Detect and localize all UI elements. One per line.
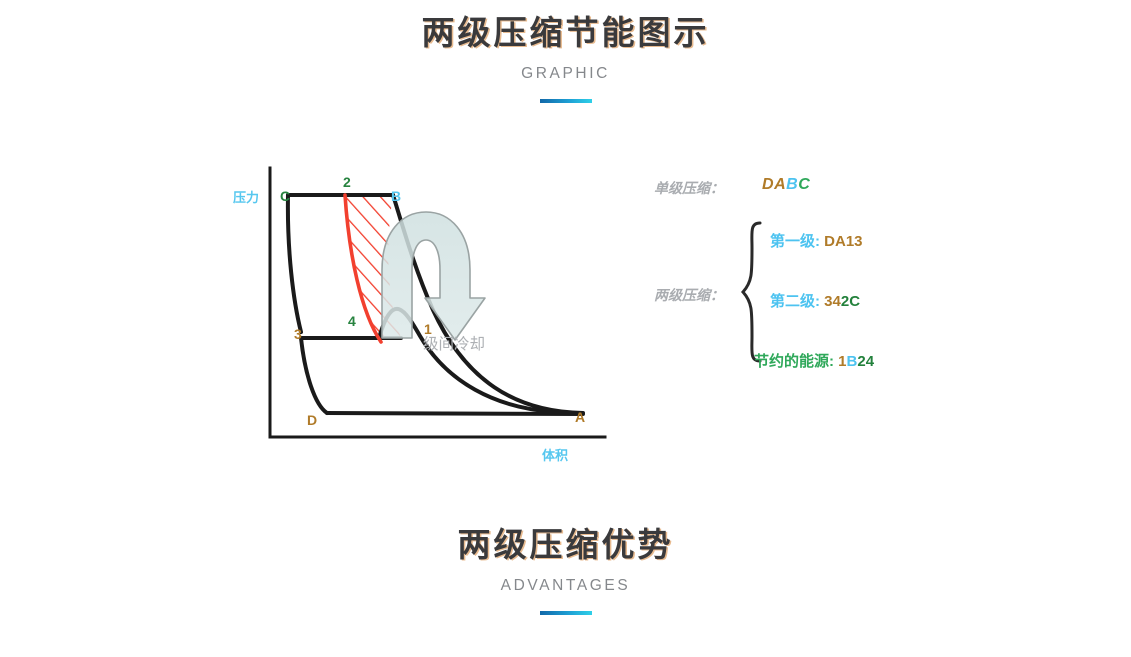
legend-seg-B: B [786,176,798,193]
section-header-graphic: 两级压缩节能图示 GRAPHIC [0,12,1131,103]
legend-stage-1-row: 第一级: DA13 [770,230,863,251]
page-title: 两级压缩节能图示 [0,12,1131,53]
legend-brace-icon [740,220,766,365]
legend-stage-2-seg-2C: 2C [841,293,860,310]
legend-stage-2-row: 第二级: 342C [770,290,860,311]
legend-stage-1-name: 第一级: [770,233,820,250]
intercooling-label: 级间冷却 [423,332,485,354]
point-label-A: A [575,409,585,425]
legend-saved-seg-B: B [847,353,858,370]
point-label-D: D [307,412,317,428]
point-label-2: 2 [343,174,351,190]
page-subtitle: GRAPHIC [0,65,1131,83]
advantages-subtitle: ADVANTAGES [0,577,1131,595]
legend-saved-energy-name: 节约的能源: [754,353,834,370]
axis-label-pressure: 压力 [233,187,259,206]
point-label-B: B [391,188,401,204]
legend-saved-energy-row: 节约的能源: 1B24 [754,350,874,371]
legend-stage-2-name: 第二级: [770,293,820,310]
axis-label-volume: 体积 [542,445,568,464]
intercooling-arrow [382,212,485,340]
legend-seg-C: C [798,176,810,193]
section-header-advantages: 两级压缩优势 ADVANTAGES [0,524,1131,615]
title-divider [540,99,592,103]
legend-stage-1-value: DA13 [824,233,862,250]
legend-two-stage-label: 两级压缩： [654,285,724,305]
legend-single-stage-label: 单级压缩： [654,178,724,198]
legend-stage-2-seg-34: 34 [824,293,841,310]
diagram-legend: 单级压缩： DABC 两级压缩： 第一级: DA13 第二级: 342C 节约的… [640,165,960,375]
point-label-C: C [280,188,290,204]
point-label-4: 4 [348,313,356,329]
legend-seg-A: A [774,176,786,193]
point-label-3: 3 [294,326,302,342]
advantages-title: 两级压缩优势 [0,524,1131,565]
legend-saved-seg-1: 1 [838,353,846,370]
legend-single-stage-value: DABC [762,176,810,194]
legend-seg-D: D [762,176,774,193]
advantages-divider [540,611,592,615]
legend-saved-seg-24: 24 [857,353,874,370]
